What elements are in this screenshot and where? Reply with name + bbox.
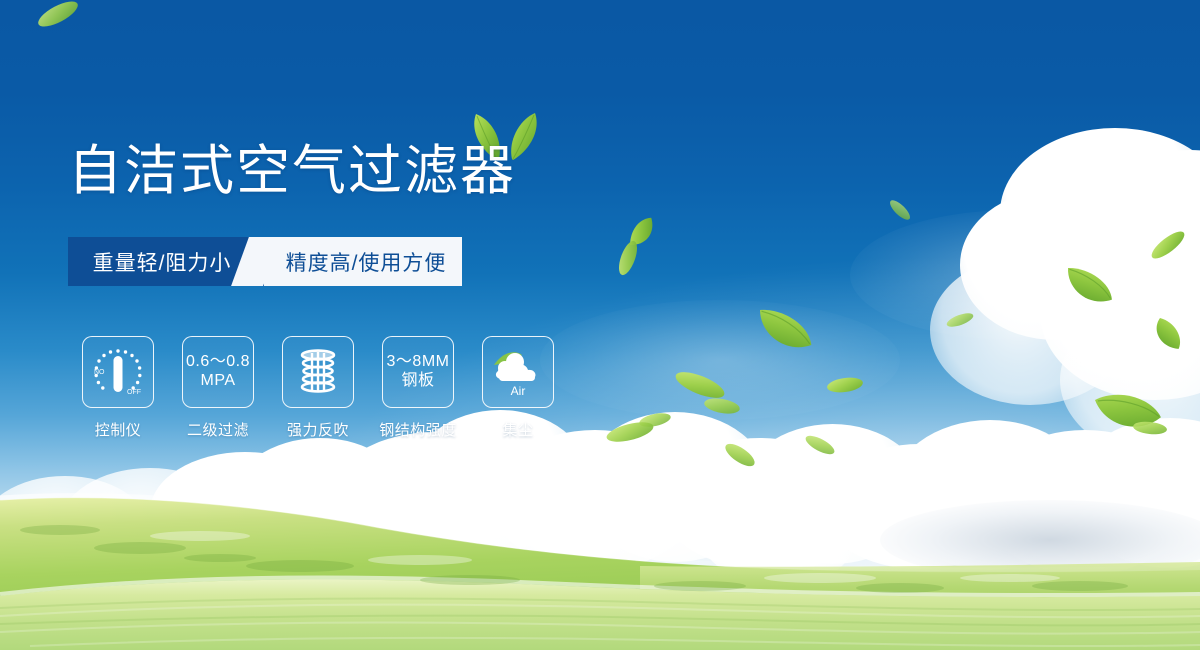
feature-item-secondary-filter[interactable]: 0.6～0.8 MPA 二级过滤 (168, 336, 268, 440)
feature-icon-text-primary: Air (511, 384, 526, 398)
gauge-dial-icon: NO OFF (87, 341, 149, 403)
tagline-right-label: 精度高/使用方便 (280, 247, 447, 277)
feature-item-control-gauge[interactable]: NO OFF 控制仪 (68, 336, 168, 440)
page-title: 自洁式空气过滤器 (68, 143, 516, 200)
feature-icon-text-secondary: MPA (186, 372, 250, 391)
filter-cartridge-icon (289, 343, 347, 401)
feature-label: 钢结构强度 (379, 419, 457, 440)
tagline-bar: 重量轻/阻力小 精度高/使用方便 (68, 237, 462, 286)
feature-label: 集尘 (502, 419, 533, 440)
air-cloud-icon: Air (488, 343, 548, 401)
feature-item-reverse-blow[interactable]: 强力反吹 (268, 336, 368, 440)
feature-icon-box: NO OFF (82, 336, 154, 408)
product-banner: 自洁式空气过滤器 重量轻/阻力小 精度高/使用方便 (0, 0, 1200, 650)
tagline-right: 精度高/使用方便 (264, 237, 462, 286)
svg-text:OFF: OFF (127, 389, 141, 396)
feature-icon-box: 0.6～0.8 MPA (182, 336, 254, 408)
feature-label: 控制仪 (95, 419, 142, 440)
feature-icon-text-secondary: 钢板 (387, 372, 450, 391)
feature-icon-text-primary: 3～8MM (387, 353, 450, 372)
feature-label: 二级过滤 (187, 419, 249, 440)
feature-icon-box: Air (482, 336, 554, 408)
tagline-left-label: 重量轻/阻力小 (93, 247, 240, 277)
feature-item-dust-collection[interactable]: Air 集尘 (468, 336, 568, 440)
feature-label: 强力反吹 (287, 419, 349, 440)
feature-list: NO OFF 控制仪 0.6～0.8 MPA 二级过滤 (68, 336, 568, 440)
svg-text:NO: NO (94, 369, 105, 376)
pressure-text-icon: 0.6～0.8 MPA (186, 353, 250, 391)
feature-icon-box (282, 336, 354, 408)
steel-plate-text-icon: 3～8MM 钢板 (387, 353, 450, 391)
feature-icon-text-primary: 0.6～0.8 (186, 353, 250, 372)
feature-item-steel-strength[interactable]: 3～8MM 钢板 钢结构强度 (368, 336, 468, 440)
feature-icon-box: 3～8MM 钢板 (382, 336, 454, 408)
